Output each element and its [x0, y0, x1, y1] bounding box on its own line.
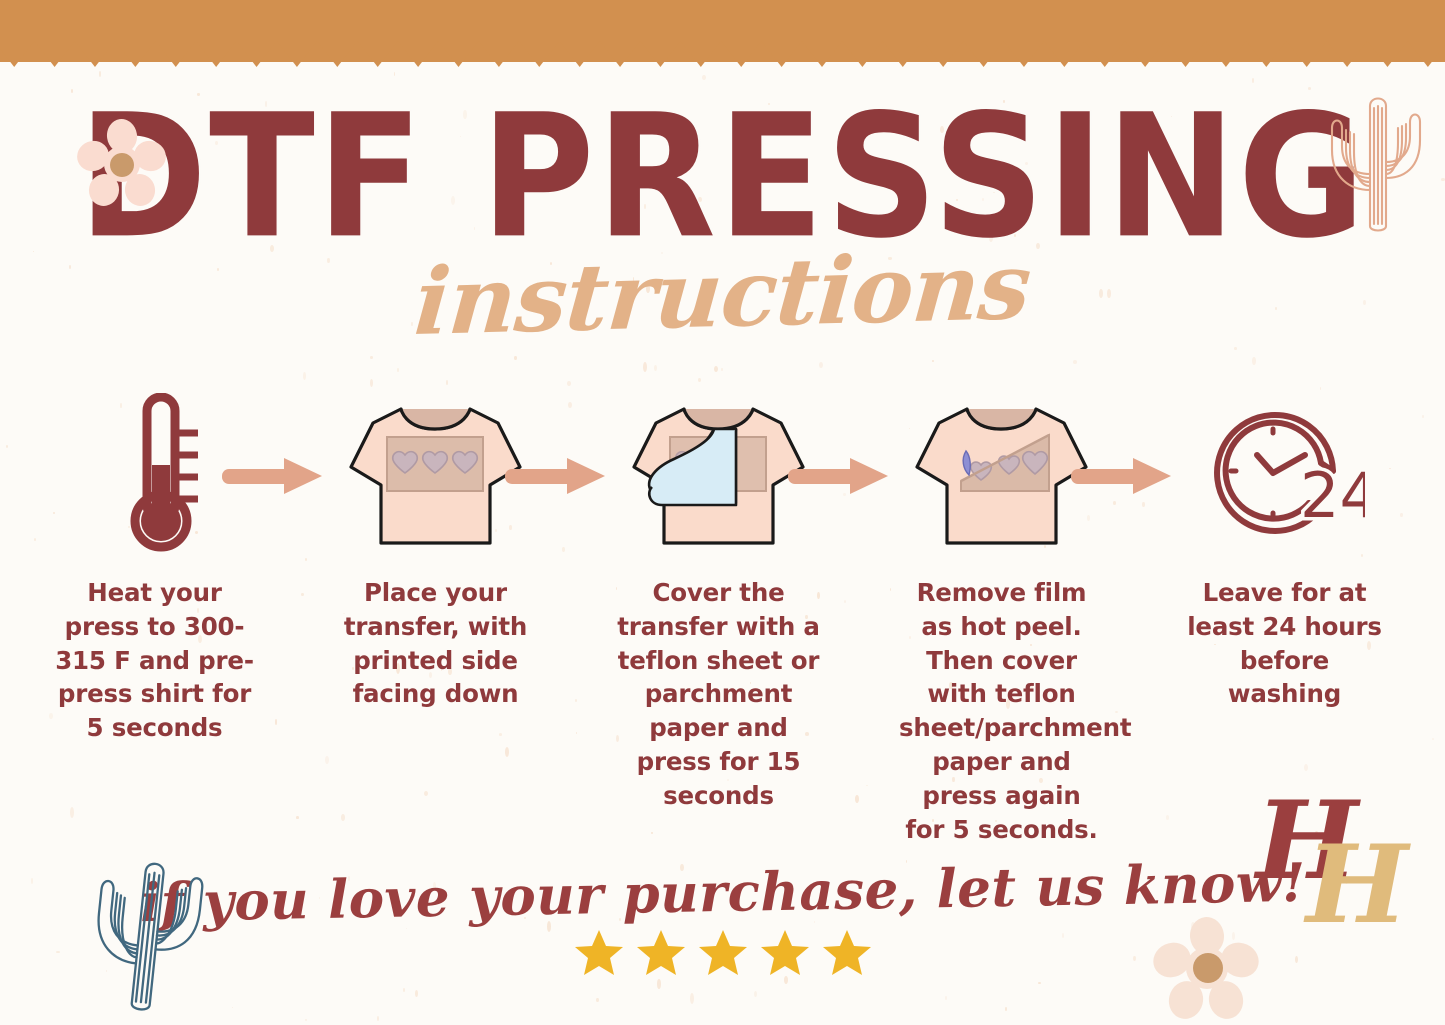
tagline-text: if you love your purchase, let us know! — [139, 852, 1306, 934]
speckle — [377, 1016, 379, 1021]
zigzag-tooth — [479, 41, 519, 67]
zigzag-tooth — [156, 41, 196, 67]
speckle — [514, 356, 517, 360]
zigzag-tooth — [115, 41, 155, 67]
zigzag-tooth — [1408, 41, 1445, 67]
speckle — [567, 381, 571, 386]
speckle — [754, 991, 757, 997]
zigzag-tooth — [34, 41, 74, 67]
speckle — [1038, 982, 1041, 984]
speckle — [394, 72, 395, 76]
speckle — [654, 365, 657, 371]
speckle — [1234, 347, 1237, 350]
speckle — [657, 979, 661, 989]
clock-24-icon: 24 — [1182, 392, 1387, 562]
zigzag-tooth — [842, 41, 882, 67]
steps-row: Heat your press to 300-315 F and pre-pre… — [0, 392, 1445, 862]
page-title-wrap: DTF PRESSING — [0, 92, 1445, 244]
speckle — [1005, 1007, 1007, 1011]
zigzag-tooth — [196, 41, 236, 67]
zigzag-tooth — [317, 41, 357, 67]
speckle — [932, 360, 934, 362]
speckle — [1363, 300, 1366, 305]
step-2: Place your transfer, with printed side f… — [333, 392, 538, 711]
zigzag-tooth — [75, 41, 115, 67]
zigzag-tooth — [1206, 41, 1246, 67]
star-icon — [759, 928, 811, 978]
zigzag-tooth — [1004, 41, 1044, 67]
speckle — [690, 993, 694, 1004]
arrow-3-icon — [788, 454, 891, 498]
zigzag-tooth — [438, 41, 478, 67]
clock-24-label: 24 — [1300, 459, 1365, 532]
speckle — [643, 362, 647, 372]
speckle — [819, 362, 823, 368]
step-4-caption: Remove film as hot peel. Then cover with… — [899, 576, 1104, 846]
step-1: Heat your press to 300-315 F and pre-pre… — [52, 392, 257, 745]
speckle — [370, 379, 373, 387]
speckle — [963, 302, 966, 306]
zigzag-tooth — [1367, 41, 1407, 67]
step-1-caption: Heat your press to 300-315 F and pre-pre… — [52, 576, 257, 745]
speckle — [99, 71, 101, 77]
zigzag-tooth — [883, 41, 923, 67]
speckle — [33, 251, 34, 252]
speckle — [698, 378, 701, 382]
speckle — [370, 356, 373, 359]
zigzag-tooth — [1165, 41, 1205, 67]
zigzag-tooth — [761, 41, 801, 67]
zigzag-tooth — [358, 41, 398, 67]
arrow-1-icon — [222, 454, 325, 498]
zigzag-tooth — [963, 41, 1003, 67]
zigzag-tooth — [1044, 41, 1084, 67]
speckle — [1073, 360, 1077, 364]
speckle — [415, 990, 418, 997]
zigzag-teeth — [0, 41, 1445, 67]
speckle — [646, 284, 650, 293]
zigzag-tooth — [681, 41, 721, 67]
speckle — [596, 998, 599, 1002]
page-title: DTF PRESSING — [78, 92, 1367, 262]
star-rating — [0, 928, 1445, 978]
step-2-caption: Place your transfer, with printed side f… — [333, 576, 538, 711]
zigzag-tooth — [923, 41, 963, 67]
speckle — [446, 380, 448, 385]
speckle — [232, 1007, 233, 1008]
zigzag-tooth — [1327, 41, 1367, 67]
speckle — [442, 290, 444, 292]
tagline-wrap: if you love your purchase, let us know! — [0, 862, 1445, 924]
zigzag-tooth — [559, 41, 599, 67]
speckle — [303, 372, 306, 380]
speckle — [305, 1019, 307, 1021]
arrow-4-icon — [1071, 454, 1174, 498]
speckle — [1320, 387, 1321, 390]
speckle — [397, 368, 399, 372]
arrow-2-icon — [505, 454, 608, 498]
zigzag-tooth — [398, 41, 438, 67]
zigzag-tooth — [0, 41, 34, 67]
zigzag-tooth — [1125, 41, 1165, 67]
step-3-caption: Cover the transfer with a teflon sheet o… — [616, 576, 821, 813]
zigzag-tooth — [640, 41, 680, 67]
zigzag-tooth — [236, 41, 276, 67]
speckle — [1275, 307, 1277, 310]
zigzag-tooth — [1287, 41, 1327, 67]
speckle — [69, 265, 71, 269]
speckle — [721, 368, 723, 371]
step-5-caption: Leave for at least 24 hours before washi… — [1182, 576, 1387, 711]
zigzag-tooth — [600, 41, 640, 67]
speckle — [1099, 289, 1103, 298]
speckle — [1107, 289, 1111, 298]
speckle — [869, 302, 871, 305]
zigzag-tooth — [277, 41, 317, 67]
star-icon — [635, 928, 687, 978]
zigzag-tooth — [1085, 41, 1125, 67]
star-icon — [821, 928, 873, 978]
speckle — [714, 366, 718, 372]
star-icon — [697, 928, 749, 978]
zigzag-tooth — [721, 41, 761, 67]
zigzag-tooth — [802, 41, 842, 67]
speckle — [403, 988, 405, 992]
zigzag-tooth — [1246, 41, 1286, 67]
speckle — [945, 996, 947, 1000]
speckle — [1252, 357, 1256, 365]
poster-canvas: DTF PRESSING instructions — [0, 0, 1445, 1025]
step-5: 24 Leave for at least 24 hours before wa… — [1182, 392, 1387, 711]
star-icon — [573, 928, 625, 978]
speckle — [411, 322, 413, 326]
zigzag-tooth — [519, 41, 559, 67]
speckle — [633, 277, 634, 281]
